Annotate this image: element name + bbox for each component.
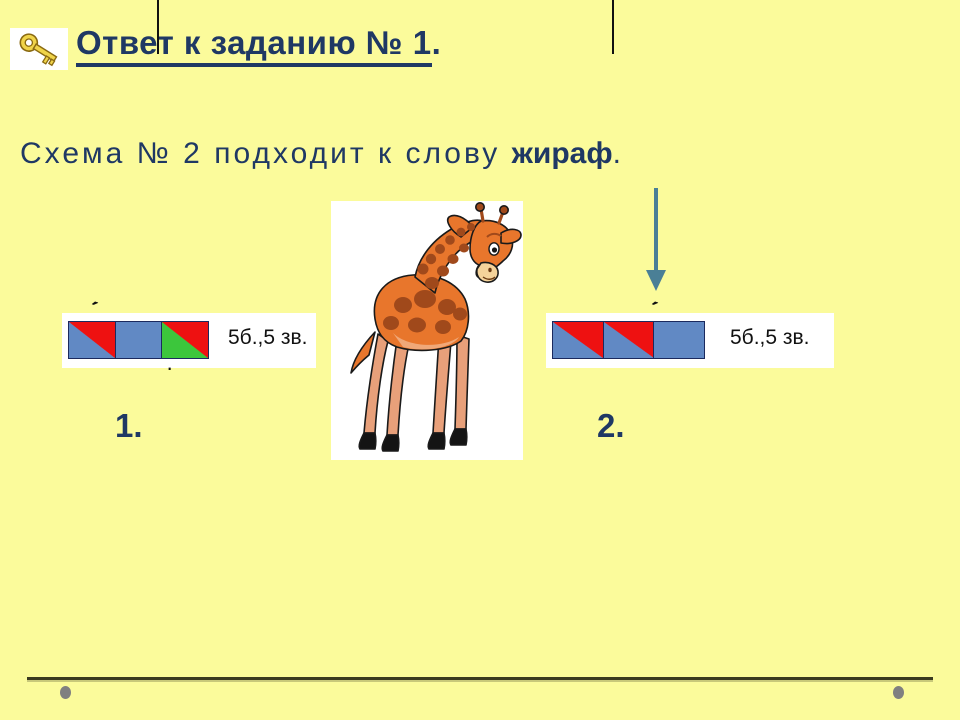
subtitle-word: жираф — [512, 137, 613, 170]
scheme-1-cell-1 — [68, 321, 116, 359]
scheme-2-syllable-divider — [612, 0, 614, 54]
subtitle-line: Схема № 2 подходит к слову жираф. — [20, 137, 621, 171]
scheme-2-cell-1 — [552, 321, 604, 359]
key-icon — [10, 28, 68, 70]
down-arrow-icon — [640, 186, 672, 296]
scheme-2-cell-2 — [603, 321, 655, 359]
scheme-1-cell-2 — [115, 321, 163, 359]
scheme-2-number: 2. — [597, 407, 625, 445]
subtitle-part1: Схема № 2 подходит к слову — [20, 137, 512, 170]
scheme-2-cells — [552, 321, 704, 359]
scheme-2-cell-3 — [653, 321, 705, 359]
footer-dot-right — [893, 686, 904, 699]
footer-rule-highlight — [27, 680, 933, 682]
page-title-period: . — [432, 24, 442, 61]
title-row: Ответ к заданию № 1. — [0, 24, 960, 80]
scheme-1-number: 1. — [115, 407, 143, 445]
scheme-1-syllable-divider — [157, 0, 159, 54]
footer-dot-left — [60, 686, 71, 699]
scheme-1-cell-3 — [161, 321, 209, 359]
subtitle-period: . — [613, 137, 621, 170]
page-title-underlined: Ответ к заданию № 1 — [76, 24, 432, 67]
scheme-1-count-label: 5б.,5 зв. — [228, 326, 308, 350]
giraffe-image — [331, 201, 523, 460]
page-title: Ответ к заданию № 1. — [76, 24, 441, 62]
scheme-2-count-label: 5б.,5 зв. — [730, 326, 810, 350]
